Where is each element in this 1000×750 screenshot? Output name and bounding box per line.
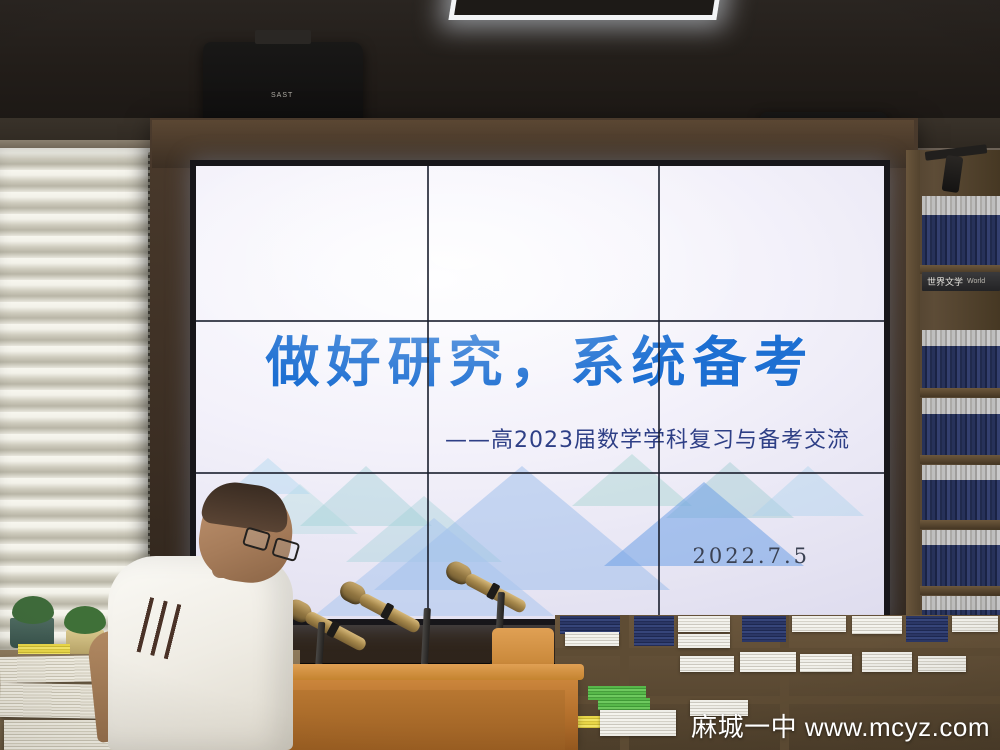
book-stack <box>678 634 730 648</box>
panel-seam-horizontal <box>196 472 884 474</box>
paper-stack-yellow <box>18 644 70 654</box>
plant-foliage <box>64 606 106 634</box>
speaker-bracket-left <box>255 30 311 44</box>
book-stack <box>680 656 734 672</box>
plant-foliage <box>12 596 54 624</box>
panel-seam-vertical <box>658 166 660 619</box>
watermark: 麻城一中 www.mcyz.com <box>691 707 990 744</box>
book-row <box>922 330 1000 390</box>
slide-title: 做好研究，系统备考 <box>196 318 884 397</box>
book-stack <box>906 616 948 642</box>
presenter-torso <box>108 556 293 750</box>
book-stack <box>600 710 676 736</box>
book-stack <box>862 652 912 672</box>
book-row <box>922 530 1000 588</box>
book-stack <box>742 616 786 642</box>
book-stack <box>634 616 674 646</box>
bookcase-shelf <box>920 586 1000 595</box>
podium-front-panel <box>265 690 565 750</box>
slide-date: 2022.7.5 <box>692 544 810 568</box>
speaker-brand-label-left: SAST <box>271 92 293 99</box>
bookcase-shelf <box>920 455 1000 464</box>
book-stack <box>792 616 846 632</box>
podium-top-edge <box>252 664 584 680</box>
book-stack <box>852 616 902 634</box>
panel-seam-vertical <box>427 166 429 619</box>
book-stack <box>678 616 730 632</box>
book-stack <box>800 654 852 672</box>
ceiling-light-fixture <box>448 0 723 20</box>
book-stack-green <box>598 698 650 710</box>
shelf-label-cn: 世界文学 <box>927 275 963 288</box>
panel-seam-horizontal <box>196 320 884 322</box>
room-photo-scene: SAST SAST 做好研究，系统备考 ——高2023届数学 <box>0 0 1000 750</box>
watermark-url: www.mcyz.com <box>805 712 990 742</box>
book-stack <box>952 616 998 632</box>
shelf-category-label: 世界文学 World <box>922 272 1000 291</box>
book-stack <box>918 656 966 672</box>
watermark-site-name: 麻城一中 <box>691 713 797 743</box>
slide-subtitle: ——高2023届数学学科复习与备考交流 <box>445 422 850 454</box>
book-row <box>922 196 1000 268</box>
book-stack <box>740 652 796 672</box>
book-row <box>922 465 1000 523</box>
book-stack <box>565 632 619 646</box>
bookcase-shelf <box>920 388 1000 397</box>
bookcase-shelf <box>920 520 1000 529</box>
shelf-label-en: World <box>967 278 985 285</box>
book-row <box>922 398 1000 458</box>
